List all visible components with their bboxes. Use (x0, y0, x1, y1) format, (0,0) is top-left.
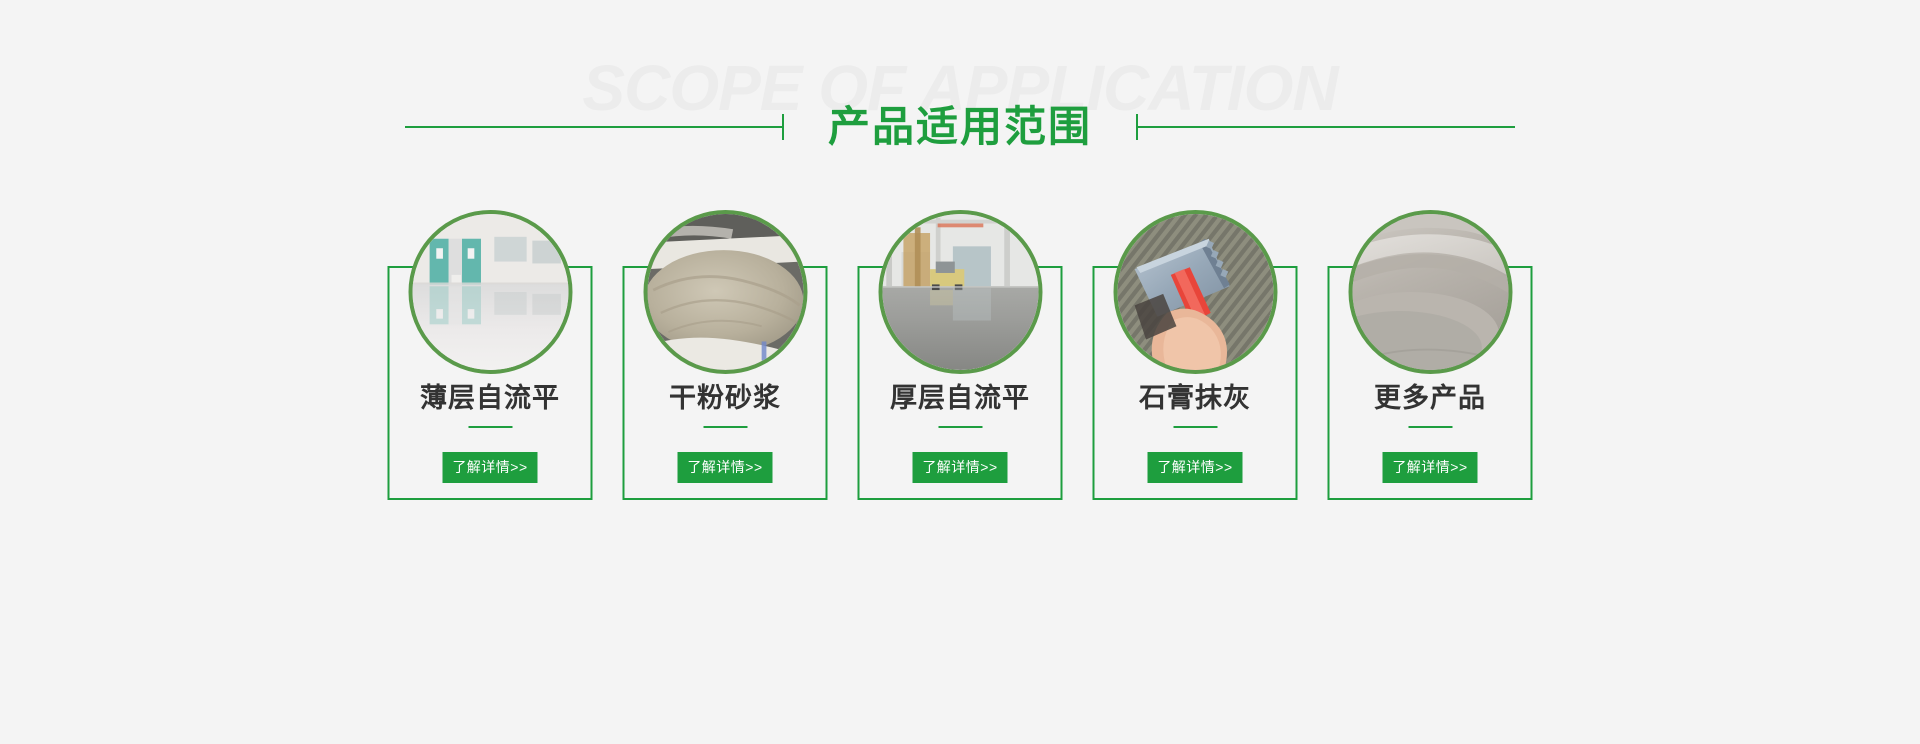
learn-more-button[interactable]: 了解详情>> (912, 452, 1007, 483)
section-title-row: 产品适用范围 (405, 104, 1515, 150)
dry-powder-mortar-photo (647, 214, 803, 370)
card-divider (1173, 426, 1217, 428)
card-image-circle[interactable] (643, 210, 807, 374)
product-card[interactable]: 薄层自流平 了解详情>> (388, 210, 593, 500)
product-card[interactable]: 石膏抹灰 了解详情>> (1093, 210, 1298, 500)
card-body: 薄层自流平 了解详情>> (388, 382, 593, 483)
card-image-circle[interactable] (878, 210, 1042, 374)
card-title: 更多产品 (1328, 382, 1533, 414)
product-card-list: 薄层自流平 了解详情>> (388, 210, 1533, 500)
card-image-circle[interactable] (1348, 210, 1512, 374)
card-body: 干粉砂浆 了解详情>> (623, 382, 828, 483)
learn-more-button[interactable]: 了解详情>> (1382, 452, 1477, 483)
card-divider (468, 426, 512, 428)
title-rule-right (1136, 114, 1515, 140)
card-title: 干粉砂浆 (623, 382, 828, 414)
page-title: 产品适用范围 (784, 104, 1136, 150)
card-divider (1408, 426, 1452, 428)
title-rule-left (405, 114, 784, 140)
learn-more-button[interactable]: 了解详情>> (677, 452, 772, 483)
learn-more-button[interactable]: 了解详情>> (1147, 452, 1242, 483)
card-body: 厚层自流平 了解详情>> (858, 382, 1063, 483)
product-card[interactable]: 更多产品 了解详情>> (1328, 210, 1533, 500)
gypsum-plaster-photo (1117, 214, 1273, 370)
card-divider (938, 426, 982, 428)
scope-of-application-section: SCOPE OF APPLICATION 产品适用范围 (0, 0, 1920, 744)
learn-more-button[interactable]: 了解详情>> (442, 452, 537, 483)
thin-layer-self-leveling-photo (412, 214, 568, 370)
thick-layer-self-leveling-photo (882, 214, 1038, 370)
card-image-circle[interactable] (1113, 210, 1277, 374)
card-image-circle[interactable] (408, 210, 572, 374)
product-card[interactable]: 干粉砂浆 了解详情>> (623, 210, 828, 500)
product-card[interactable]: 厚层自流平 了解详情>> (858, 210, 1063, 500)
section-header: SCOPE OF APPLICATION 产品适用范围 (0, 0, 1920, 200)
card-body: 石膏抹灰 了解详情>> (1093, 382, 1298, 483)
more-products-photo (1352, 214, 1508, 370)
card-title: 厚层自流平 (858, 382, 1063, 414)
card-title: 石膏抹灰 (1093, 382, 1298, 414)
card-divider (703, 426, 747, 428)
card-body: 更多产品 了解详情>> (1328, 382, 1533, 483)
card-title: 薄层自流平 (388, 382, 593, 414)
